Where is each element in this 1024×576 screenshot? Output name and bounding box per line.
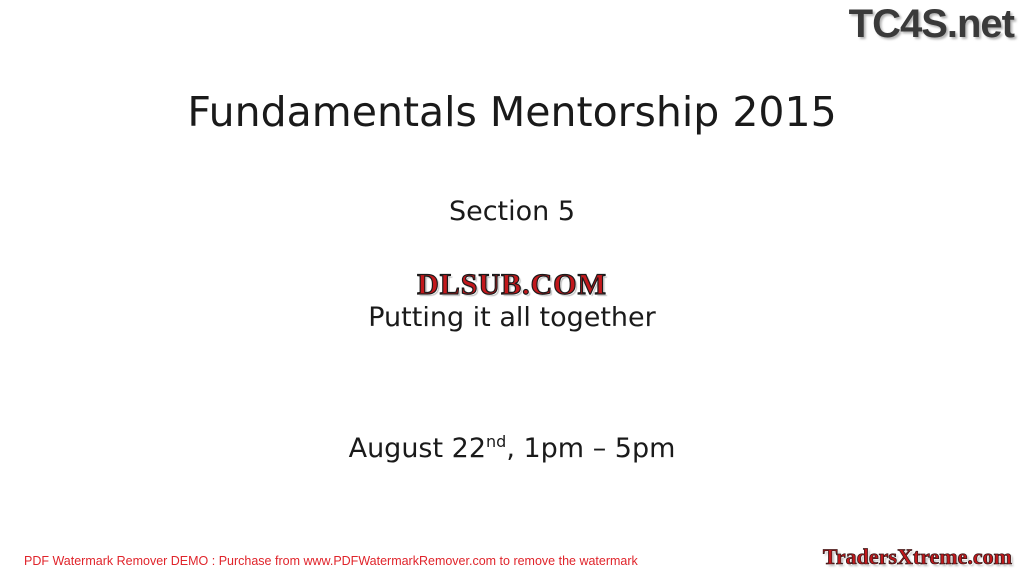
slide-tagline: Putting it all together bbox=[0, 302, 1024, 333]
datetime-suffix: , 1pm – 5pm bbox=[506, 433, 675, 464]
slide-datetime: August 22nd, 1pm – 5pm bbox=[0, 432, 1024, 464]
pdf-watermark-demo-notice: PDF Watermark Remover DEMO : Purchase fr… bbox=[24, 554, 638, 568]
dlsub-watermark: DLSUB.COM bbox=[366, 264, 658, 306]
datetime-prefix: August 22 bbox=[349, 433, 486, 464]
datetime-ordinal: nd bbox=[486, 432, 506, 451]
tradersxtreme-watermark: TradersXtreme.com bbox=[823, 544, 1012, 570]
dlsub-watermark-text: DLSUB.COM bbox=[417, 268, 607, 302]
slide-canvas: TC4S.net Fundamentals Mentorship 2015 Se… bbox=[0, 0, 1024, 576]
page-title: Fundamentals Mentorship 2015 bbox=[0, 88, 1024, 136]
section-label: Section 5 bbox=[0, 196, 1024, 227]
tc4s-watermark: TC4S.net bbox=[849, 2, 1014, 47]
